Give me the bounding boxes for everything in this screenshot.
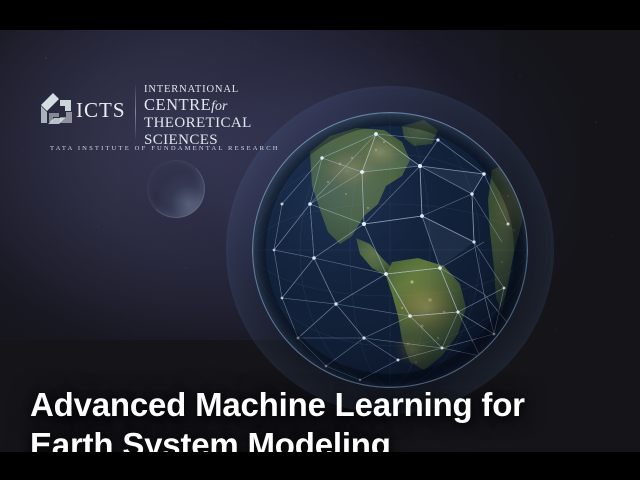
slide-title-line-2: Earth System Modeling [30, 425, 630, 452]
icts-cube-mark-icon [38, 92, 74, 128]
logo-line-centre: CENTREfor [144, 96, 252, 115]
logo-divider [135, 85, 136, 139]
icts-full-name: INTERNATIONAL CENTREfor THEORETICAL SCIE… [144, 83, 252, 149]
logo-centre-word: CENTRE [144, 95, 211, 114]
slide-title-line-1: Advanced Machine Learning for [30, 385, 630, 425]
globe-sphere [252, 112, 528, 388]
title-card: ICTS INTERNATIONAL CENTREfor THEORETICAL… [0, 0, 640, 480]
logo-tagline: TATA INSTITUTE OF FUNDAMENTAL RESEARCH [50, 145, 280, 152]
globe-limb-highlight [252, 112, 528, 388]
network-globe-graphic [252, 112, 528, 388]
video-frame: ICTS INTERNATIONAL CENTREfor THEORETICAL… [0, 30, 640, 452]
letterbox-bar-top [0, 0, 640, 30]
icts-wordmark: ICTS [76, 98, 126, 123]
logo-centre-for: for [211, 99, 227, 114]
letterbox-bar-bottom [0, 452, 640, 480]
moon-rim [147, 160, 205, 218]
crescent-moon-graphic [147, 160, 205, 218]
slide-title-block: Advanced Machine Learning for Earth Syst… [30, 385, 630, 452]
icts-logo: ICTS INTERNATIONAL CENTREfor THEORETICAL… [38, 85, 248, 155]
logo-line-theoretical: THEORETICAL [144, 115, 252, 132]
